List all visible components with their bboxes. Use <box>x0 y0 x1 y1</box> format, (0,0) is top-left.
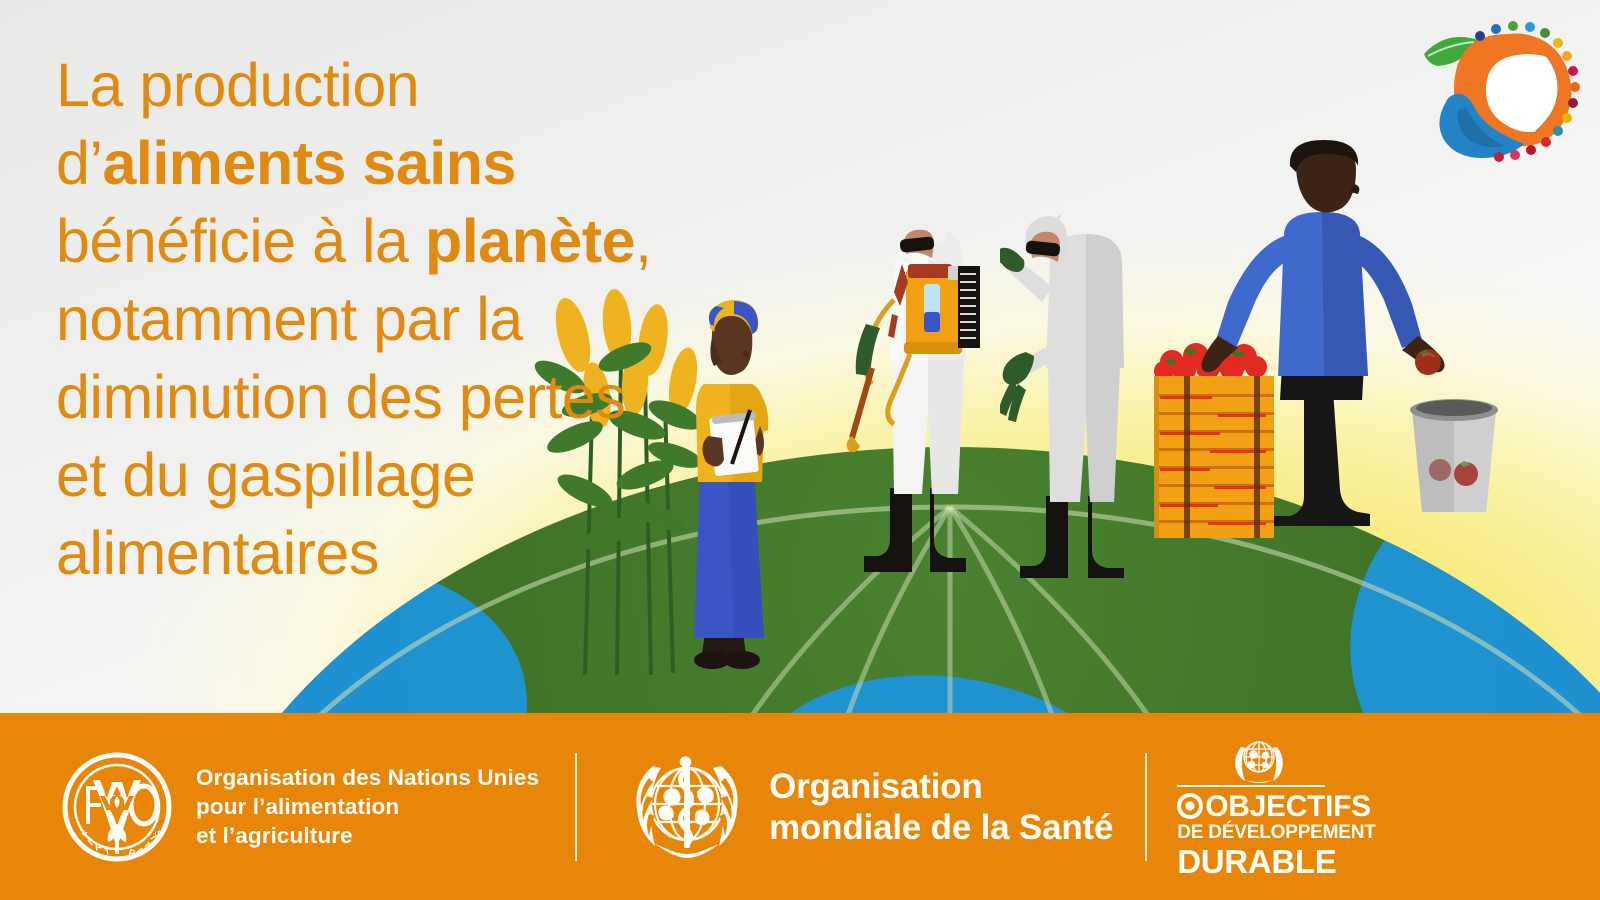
sdg-rule <box>1177 785 1325 787</box>
footer-bar: F I A T P A N I S Organisation des Natio… <box>0 713 1600 900</box>
sdg-title-line-1: OBJECTIFS <box>1177 791 1371 822</box>
headline-part-4-bold: planète <box>425 207 635 275</box>
un-emblem-icon <box>1231 735 1287 783</box>
fao-name: Organisation des Nations Unies pour l’al… <box>196 763 539 850</box>
poster-canvas: La production d’aliments sains bénéficie… <box>0 0 1600 900</box>
waste-bin <box>1404 392 1504 514</box>
woman-farmer-with-clipboard <box>672 286 782 676</box>
sdg-title-objectifs: OBJECTIFS <box>1205 791 1371 822</box>
fao-emblem: F I A T P A N I S <box>60 750 174 864</box>
page-title: La production d’aliments sains bénéficie… <box>56 46 676 592</box>
fao-name-line-2: pour l’alimentation <box>196 792 539 821</box>
sdg-title-line-2: DE DÉVELOPPEMENT <box>1177 822 1375 844</box>
headline-part-3: bénéficie à la <box>56 207 425 275</box>
who-emblem <box>623 748 751 866</box>
headline-part-2-bold: aliments sains <box>102 129 515 197</box>
worker-inspecting-equipment <box>1000 200 1160 578</box>
who-name-line-2: mondiale de la Santé <box>769 807 1113 848</box>
who-logo-block: Organisation mondiale de la Santé <box>623 748 1113 866</box>
footer-divider-1 <box>575 753 577 861</box>
fao-name-line-3: et l’agriculture <box>196 821 539 850</box>
fao-name-line-1: Organisation des Nations Unies <box>196 763 539 792</box>
worker-with-backpack-sprayer <box>838 188 1018 580</box>
who-name-line-1: Organisation <box>769 766 1113 807</box>
sdg-o-circle-icon <box>1177 793 1203 819</box>
sdg-logo-block: OBJECTIFS DE DÉVELOPPEMENT DURABLE <box>1177 735 1375 879</box>
fao-logo-block: F I A T P A N I S Organisation des Natio… <box>0 750 539 864</box>
who-name: Organisation mondiale de la Santé <box>769 766 1113 848</box>
footer-divider-2 <box>1145 753 1147 861</box>
sdg-title-line-3: DURABLE <box>1177 844 1336 879</box>
world-food-safety-day-logo <box>1412 18 1582 168</box>
